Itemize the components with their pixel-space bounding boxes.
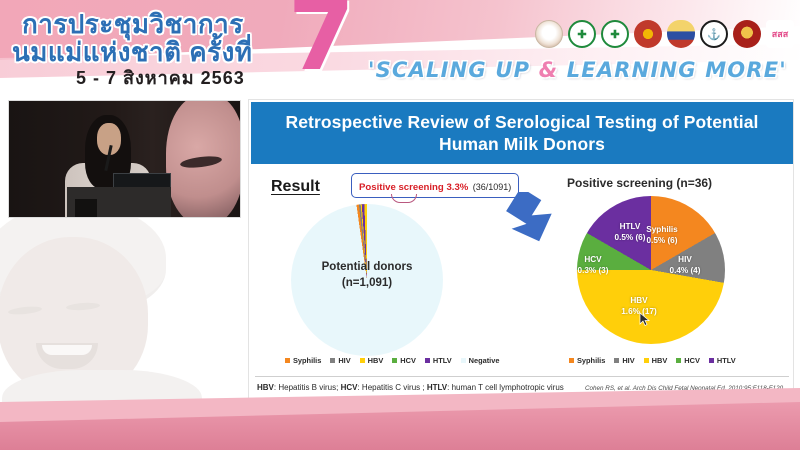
legend-right-swatch-hiv — [614, 358, 619, 363]
video-podium-panel — [75, 199, 97, 218]
callout-brace — [391, 194, 417, 203]
legend-right-swatch-syphilis — [569, 358, 574, 363]
legend-label-htlv: HTLV — [433, 356, 452, 365]
slice-value-htlv: 0.5% (6) — [607, 233, 653, 244]
slide-title-bar: Retrospective Review of Serological Test… — [251, 102, 793, 164]
legend-right-label-hbv: HBV — [652, 356, 668, 365]
tagline-ampersand: & — [539, 58, 559, 82]
pie-slice-label-hiv: HIV 0.4% (4) — [663, 255, 707, 276]
presentation-screen: การประชุมวิชาการ นมแม่แห่งชาติ ครั้งที่ … — [0, 0, 800, 450]
result-label: Result — [271, 178, 320, 196]
legend-right-swatch-htlv — [709, 358, 714, 363]
legend-item-hbv: HBV — [360, 356, 384, 365]
legend-label-syphilis: Syphilis — [293, 356, 321, 365]
center-label-line1: Potential donors — [301, 260, 433, 276]
legend-right-swatch-hcv — [676, 358, 681, 363]
tagline-part-1: 'SCALING UP — [368, 58, 539, 82]
legend-right-item-hbv: HBV — [644, 356, 668, 365]
legend-label-negative: Negative — [469, 356, 500, 365]
slice-name-hiv: HIV — [663, 255, 707, 266]
organization-logos: ✚ ✚ ⚓ สสส — [535, 20, 794, 48]
legend-right-label-htlv: HTLV — [717, 356, 736, 365]
center-label-line2: (n=1,091) — [301, 276, 433, 292]
legend-swatch-hcv — [392, 358, 397, 363]
conference-date-thai: 5 - 7 สิงหาคม 2563 — [76, 63, 245, 92]
legend-right: Syphilis HIV HBV HCV HTLV — [569, 356, 736, 365]
legend-right-item-htlv: HTLV — [709, 356, 736, 365]
slice-name-hbv: HBV — [609, 296, 669, 307]
slice-value-hiv: 0.4% (4) — [663, 266, 707, 277]
presenter-video-panel[interactable] — [8, 100, 241, 218]
legend-swatch-htlv — [425, 358, 430, 363]
mouse-cursor-icon — [639, 312, 650, 332]
watermark-teeth — [42, 345, 92, 355]
logo-black-emblem: ⚓ — [700, 20, 728, 48]
legend-label-hiv: HIV — [338, 356, 350, 365]
slice-value-hcv: 0.3% (3) — [571, 266, 615, 277]
logo-green-health-2: ✚ — [601, 20, 629, 48]
conference-tagline: 'SCALING UP & LEARNING MORE' — [368, 58, 787, 82]
positive-screening-callout: Positive screening 3.3% (36/1091) — [351, 173, 519, 198]
logo-red-crest — [733, 20, 761, 48]
legend-right-label-syphilis: Syphilis — [577, 356, 605, 365]
legend-item-syphilis: Syphilis — [285, 356, 321, 365]
legend-swatch-negative — [461, 358, 466, 363]
legend-right-item-syphilis: Syphilis — [569, 356, 605, 365]
legend-swatch-hbv — [360, 358, 365, 363]
legend-right-label-hcv: HCV — [684, 356, 700, 365]
logo-royal-crest — [667, 20, 695, 48]
legend-swatch-hiv — [330, 358, 335, 363]
callout-fraction-text: (36/1091) — [473, 182, 512, 192]
conference-edition-number: 7 — [288, 0, 355, 84]
legend-label-hcv: HCV — [400, 356, 416, 365]
callout-percent-text: Positive screening 3.3% — [359, 182, 468, 193]
tagline-part-2: LEARNING MORE' — [558, 58, 787, 82]
pie-slice-label-htlv: HTLV 0.5% (6) — [607, 222, 653, 243]
slide-title: Retrospective Review of Serological Test… — [269, 111, 775, 155]
logo-green-health-1: ✚ — [568, 20, 596, 48]
slice-name-hcv: HCV — [571, 255, 615, 266]
bottom-decorative-band — [0, 388, 800, 450]
blue-arrow-icon — [501, 192, 557, 247]
legend-label-hbv: HBV — [368, 356, 384, 365]
legend-right-label-hiv: HIV — [622, 356, 634, 365]
legend-item-htlv: HTLV — [425, 356, 452, 365]
slice-name-htlv: HTLV — [607, 222, 653, 233]
legend-right-swatch-hbv — [644, 358, 649, 363]
legend-item-negative: Negative — [461, 356, 500, 365]
legend-right-item-hiv: HIV — [614, 356, 634, 365]
legend-swatch-syphilis — [285, 358, 290, 363]
conference-banner: การประชุมวิชาการ นมแม่แห่งชาติ ครั้งที่ … — [0, 0, 800, 95]
logo-ministry-public-health — [634, 20, 662, 48]
slide-content: Retrospective Review of Serological Test… — [248, 99, 794, 405]
pie-slice-label-hcv: HCV 0.3% (3) — [571, 255, 615, 276]
pie-chart-potential-donors-center-label: Potential donors (n=1,091) — [301, 260, 433, 291]
legend-left: Syphilis HIV HBV HCV HTLV Negative — [285, 356, 499, 365]
legend-item-hiv: HIV — [330, 356, 350, 365]
logo-sss: สสส — [766, 20, 794, 48]
legend-right-item-hcv: HCV — [676, 356, 700, 365]
footnote-divider — [255, 376, 789, 377]
pie-chart-positive-title: Positive screening (n=36) — [567, 176, 712, 190]
legend-item-hcv: HCV — [392, 356, 416, 365]
logo-royal-seal — [535, 20, 563, 48]
